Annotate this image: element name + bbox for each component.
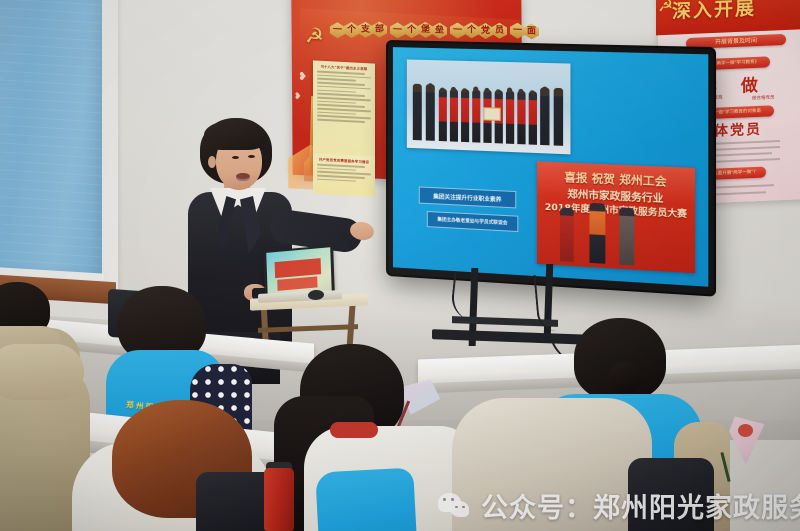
party-emblem-icon: ☭ [305,23,331,48]
slogan-char: 部 [372,21,387,38]
slide-textbox-2: 集团主办敬老爱幼与学员式联谊会 [427,211,519,232]
hair-bun [608,362,642,394]
certificate-prop [483,107,500,121]
slide-award-photo: 喜报 祝贺 郑州工会 郑州市家政服务行业 2018年度郑州市家政服务员大赛 [537,161,695,273]
fur-hood [0,344,84,400]
presenter-mouth [236,173,250,181]
slogan-char: 一 [330,22,345,39]
slogan-char: 个 [404,22,419,39]
television-display: 喜报 祝贺 郑州工会 郑州市家政服务行业 2018年度郑州市家政服务员大赛 集团… [388,42,714,294]
board-sub-right: 做合格党员 [752,95,775,102]
slogan-char: 支 [358,21,373,38]
presenter-eye [232,156,239,159]
slide-textbox-1: 集团关注提升行业职业素养 [419,186,516,208]
photograph-scene: ☭ 一 个 支 部 一 个 堡 垒 一 个 党 员 一 面 ❥ ❥ 개十八大"关… [0,0,800,531]
thermos-bottle [264,468,294,531]
window-blind-texture [0,0,102,278]
tv-screen: 喜报 祝贺 郑州工会 郑州市家政服务行业 2018年度郑州市家政服务员大赛 集团… [393,47,708,287]
collar-red [330,422,378,438]
watermark-text: 公众号：郑州阳光家政服务公司 [481,486,800,525]
dove-icon: ❥ [294,92,302,102]
rose-bud [738,424,753,437]
wechat-icon [438,491,472,521]
slogan-char: 垒 [432,22,447,39]
presenter-hair-fringe [204,120,266,150]
award-person [560,208,574,262]
slogan-char: 个 [344,22,359,39]
dove-icon: ❥ [298,70,307,83]
award-person [619,207,634,265]
party-emblem-icon: ☭ [658,0,673,16]
slide-group-photo [407,59,571,154]
attendee-vest [315,468,419,531]
slogan-char: 一 [390,22,405,39]
slogan-char: 堡 [418,21,433,38]
presenter-eye [248,155,255,158]
award-person [589,203,605,264]
presenter-ear [208,156,216,168]
watermark: 公众号：郑州阳光家政服务公司 [438,486,800,525]
